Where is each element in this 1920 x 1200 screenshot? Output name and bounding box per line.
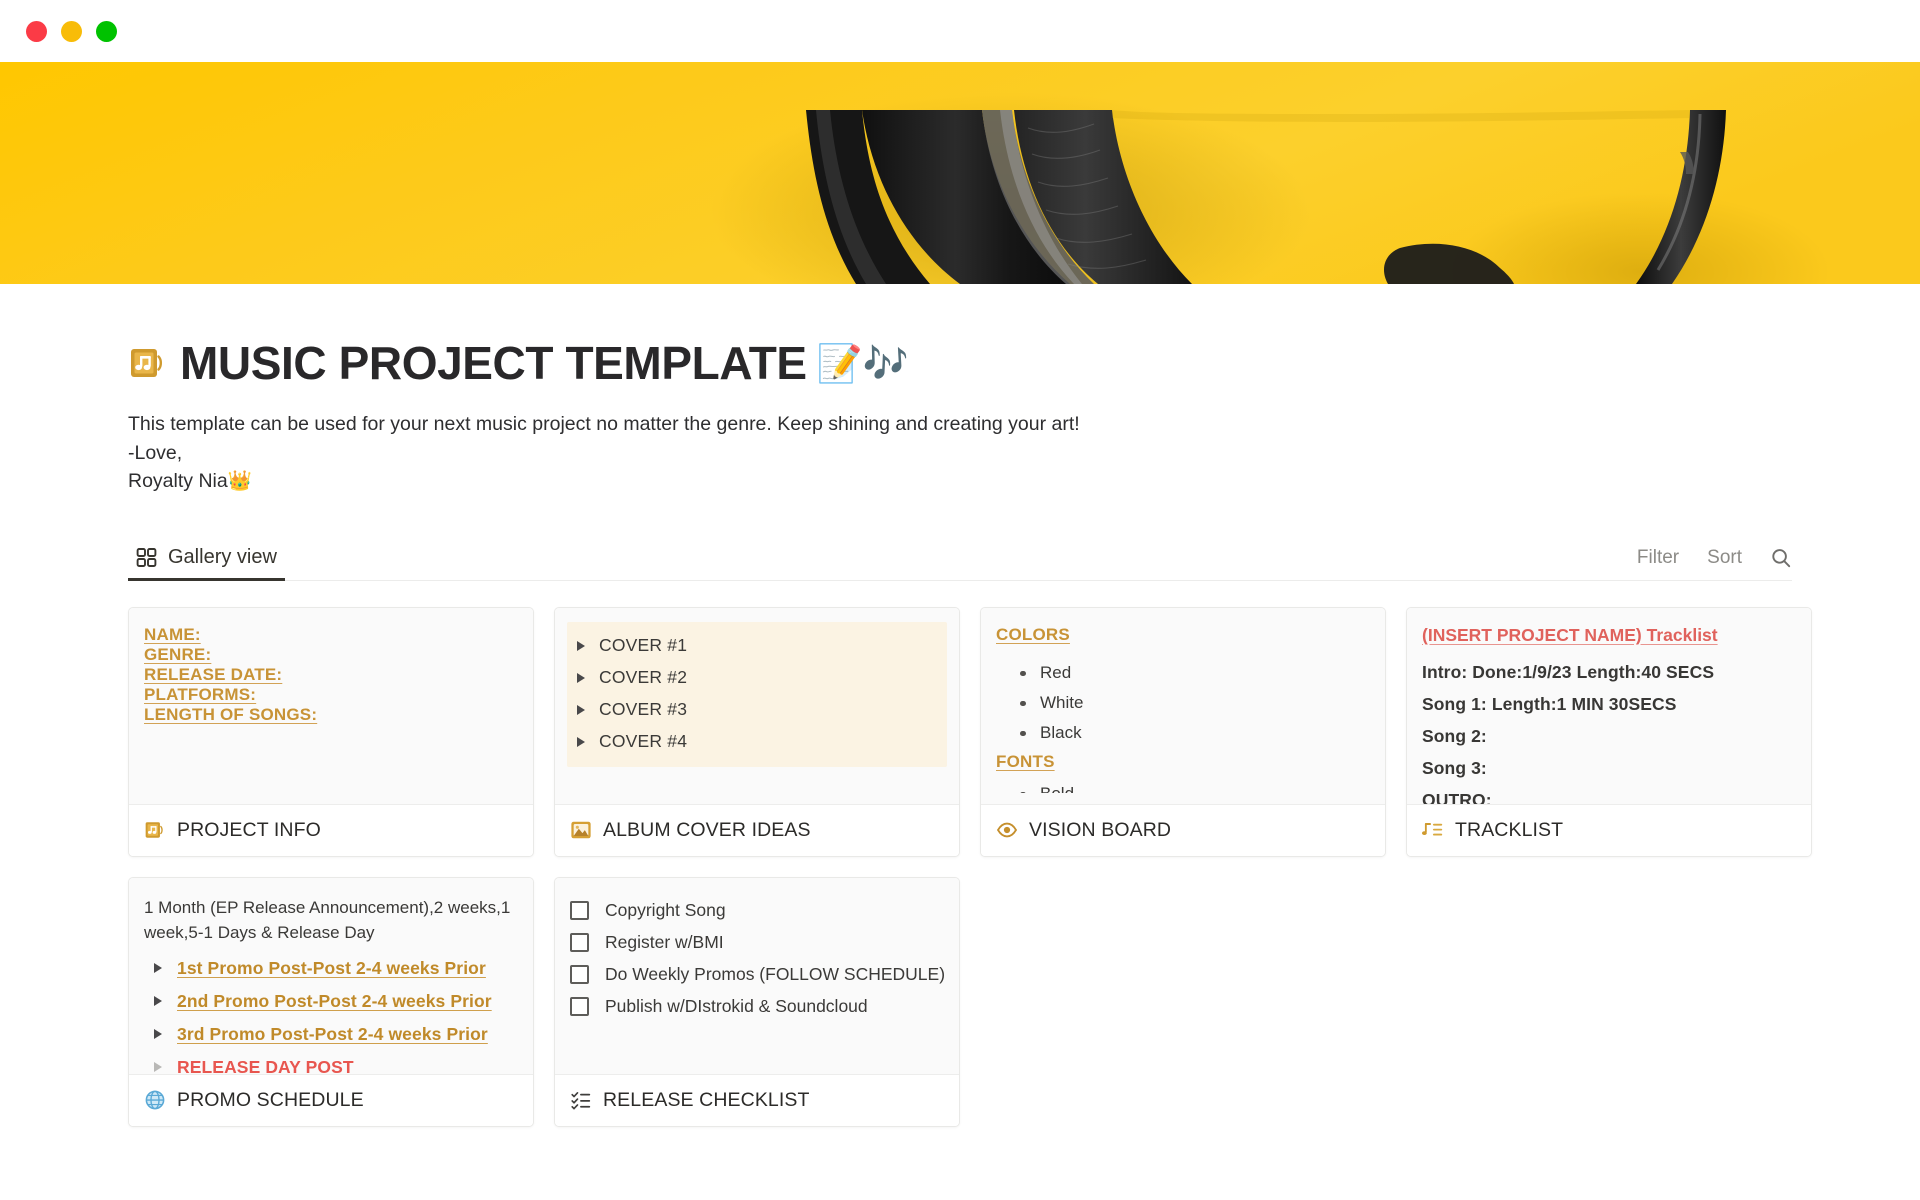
gallery-grid: NAME: GENRE: RELEASE DATE: PLATFORMS: LE… — [128, 607, 1812, 1127]
description-line-1: This template can be used for your next … — [128, 410, 1792, 439]
tracklist-row-song-3: Song 3: — [1422, 753, 1796, 785]
checklist-label: Register w/BMI — [605, 932, 724, 953]
tracklist-heading[interactable]: (INSERT PROJECT NAME) Tracklist — [1422, 625, 1718, 646]
toolbar-actions: Filter Sort — [1637, 547, 1792, 580]
chevron-right-icon[interactable] — [154, 996, 162, 1006]
fonts-list: Bold — [996, 779, 1370, 793]
window-minimize-button[interactable] — [61, 21, 82, 42]
label-length-of-songs[interactable]: LENGTH OF SONGS: — [144, 705, 317, 725]
title-emoji: 📝🎶 — [817, 345, 909, 382]
chevron-right-icon[interactable] — [577, 673, 585, 683]
filter-button[interactable]: Filter — [1637, 548, 1679, 567]
list-item: White — [1040, 688, 1370, 718]
window-titlebar — [0, 0, 1920, 62]
card-preview: (INSERT PROJECT NAME) Tracklist Intro: D… — [1407, 608, 1811, 804]
card-preview: NAME: GENRE: RELEASE DATE: PLATFORMS: LE… — [129, 608, 533, 804]
cover-image[interactable] — [0, 62, 1920, 284]
chevron-right-icon[interactable] — [577, 737, 585, 747]
promo-link[interactable]: 1st Promo Post-Post 2-4 weeks Prior — [177, 958, 486, 979]
chevron-right-icon[interactable] — [154, 1062, 162, 1072]
card-footer: PROJECT INFO — [129, 804, 533, 856]
grid-icon — [136, 547, 157, 568]
view-tabs: Gallery view — [128, 546, 285, 580]
framed-picture-icon — [570, 819, 592, 841]
toggle-label: COVER #3 — [599, 699, 687, 720]
checklist-item-4[interactable]: Publish w/DIstrokid & Soundcloud — [570, 991, 944, 1023]
card-preview: COLORS Red White Black FONTS Bold — [981, 608, 1385, 804]
checkbox-icon[interactable] — [570, 965, 589, 984]
chevron-right-icon[interactable] — [577, 641, 585, 651]
label-name[interactable]: NAME: — [144, 625, 201, 645]
checkbox-icon[interactable] — [570, 997, 589, 1016]
toggle-cover-1[interactable]: COVER #1 — [571, 630, 943, 662]
page-title-row: MUSIC PROJECT TEMPLATE 📝🎶 — [128, 336, 1792, 390]
tab-gallery-view-label: Gallery view — [168, 546, 277, 569]
toggle-cover-2[interactable]: COVER #2 — [571, 662, 943, 694]
toggle-label: COVER #1 — [599, 635, 687, 656]
musical-score-icon — [128, 343, 168, 383]
tab-gallery-view[interactable]: Gallery view — [128, 546, 285, 580]
list-item: Red — [1040, 658, 1370, 688]
promo-link[interactable]: 2nd Promo Post-Post 2-4 weeks Prior — [177, 991, 492, 1012]
card-tracklist[interactable]: (INSERT PROJECT NAME) Tracklist Intro: D… — [1406, 607, 1812, 857]
search-icon[interactable] — [1770, 547, 1792, 569]
checklist-label: Copyright Song — [605, 900, 726, 921]
list-item: Black — [1040, 718, 1370, 748]
headphones-illustration — [0, 62, 1920, 284]
checklist-icon — [570, 1089, 592, 1111]
tracklist-row-outro: OUTRO: — [1422, 785, 1796, 804]
card-footer: VISION BOARD — [981, 804, 1385, 856]
card-footer: RELEASE CHECKLIST — [555, 1074, 959, 1126]
card-footer: TRACKLIST — [1407, 804, 1811, 856]
promo-link[interactable]: 3rd Promo Post-Post 2-4 weeks Prior — [177, 1024, 488, 1045]
card-album-cover-ideas[interactable]: COVER #1 COVER #2 COVER #3 COVER #4 — [554, 607, 960, 857]
sort-button[interactable]: Sort — [1707, 548, 1742, 567]
colors-list: Red White Black — [996, 658, 1370, 748]
promo-link[interactable]: RELEASE DAY POST — [177, 1057, 354, 1074]
window-close-button[interactable] — [26, 21, 47, 42]
card-title: TRACKLIST — [1455, 819, 1563, 842]
promo-description: 1 Month (EP Release Announcement),2 week… — [144, 895, 518, 945]
tracklist-row-song-2: Song 2: — [1422, 721, 1796, 753]
checklist-item-2[interactable]: Register w/BMI — [570, 927, 944, 959]
checklist-label: Publish w/DIstrokid & Soundcloud — [605, 996, 868, 1017]
globe-icon — [144, 1089, 166, 1111]
card-preview: COVER #1 COVER #2 COVER #3 COVER #4 — [555, 608, 959, 804]
checkbox-icon[interactable] — [570, 901, 589, 920]
window-maximize-button[interactable] — [96, 21, 117, 42]
toggle-label: COVER #4 — [599, 731, 687, 752]
musical-note-list-icon — [1422, 819, 1444, 841]
description-line-2: -Love, — [128, 439, 1792, 468]
checklist-item-1[interactable]: Copyright Song — [570, 895, 944, 927]
toggle-label: COVER #2 — [599, 667, 687, 688]
card-title: RELEASE CHECKLIST — [603, 1089, 810, 1112]
card-vision-board[interactable]: COLORS Red White Black FONTS Bold — [980, 607, 1386, 857]
card-footer: PROMO SCHEDULE — [129, 1074, 533, 1126]
chevron-right-icon[interactable] — [154, 1029, 162, 1039]
list-item: Bold — [1040, 779, 1370, 793]
eye-icon — [996, 819, 1018, 841]
chevron-right-icon[interactable] — [154, 963, 162, 973]
promo-item-3[interactable]: 3rd Promo Post-Post 2-4 weeks Prior — [144, 1018, 518, 1051]
card-title: PROJECT INFO — [177, 819, 321, 842]
page-body: MUSIC PROJECT TEMPLATE 📝🎶 This template … — [0, 336, 1920, 1127]
checklist-label: Do Weekly Promos (FOLLOW SCHEDULE) — [605, 964, 945, 985]
heading-fonts[interactable]: FONTS — [996, 752, 1055, 772]
label-release-date[interactable]: RELEASE DATE: — [144, 665, 282, 685]
card-preview: 1 Month (EP Release Announcement),2 week… — [129, 878, 533, 1074]
page-description: This template can be used for your next … — [128, 410, 1792, 496]
card-project-info[interactable]: NAME: GENRE: RELEASE DATE: PLATFORMS: LE… — [128, 607, 534, 857]
card-title: PROMO SCHEDULE — [177, 1089, 364, 1112]
checklist-item-3[interactable]: Do Weekly Promos (FOLLOW SCHEDULE) — [570, 959, 944, 991]
database-toolbar: Gallery view Filter Sort — [128, 533, 1792, 581]
label-genre[interactable]: GENRE: — [144, 645, 211, 665]
tracklist-row-intro: Intro: Done:1/9/23 Length:40 SECS — [1422, 657, 1796, 689]
page-title: MUSIC PROJECT TEMPLATE — [180, 336, 807, 390]
toggle-block: COVER #1 COVER #2 COVER #3 COVER #4 — [567, 622, 947, 767]
promo-item-4[interactable]: RELEASE DAY POST — [144, 1051, 518, 1074]
checkbox-icon[interactable] — [570, 933, 589, 952]
musical-score-icon — [144, 819, 166, 841]
promo-item-2[interactable]: 2nd Promo Post-Post 2-4 weeks Prior — [144, 985, 518, 1018]
card-preview: Copyright Song Register w/BMI Do Weekly … — [555, 878, 959, 1074]
chevron-right-icon[interactable] — [577, 705, 585, 715]
heading-colors[interactable]: COLORS — [996, 625, 1070, 645]
card-title: VISION BOARD — [1029, 819, 1171, 842]
card-promo-schedule[interactable]: 1 Month (EP Release Announcement),2 week… — [128, 877, 534, 1127]
card-title: ALBUM COVER IDEAS — [603, 819, 811, 842]
promo-item-1[interactable]: 1st Promo Post-Post 2-4 weeks Prior — [144, 952, 518, 985]
label-platforms[interactable]: PLATFORMS: — [144, 685, 256, 705]
toggle-cover-4[interactable]: COVER #4 — [571, 726, 943, 758]
description-line-3: Royalty Nia👑 — [128, 467, 1792, 496]
tracklist-row-song-1: Song 1: Length:1 MIN 30SECS — [1422, 689, 1796, 721]
card-footer: ALBUM COVER IDEAS — [555, 804, 959, 856]
card-release-checklist[interactable]: Copyright Song Register w/BMI Do Weekly … — [554, 877, 960, 1127]
toggle-cover-3[interactable]: COVER #3 — [571, 694, 943, 726]
